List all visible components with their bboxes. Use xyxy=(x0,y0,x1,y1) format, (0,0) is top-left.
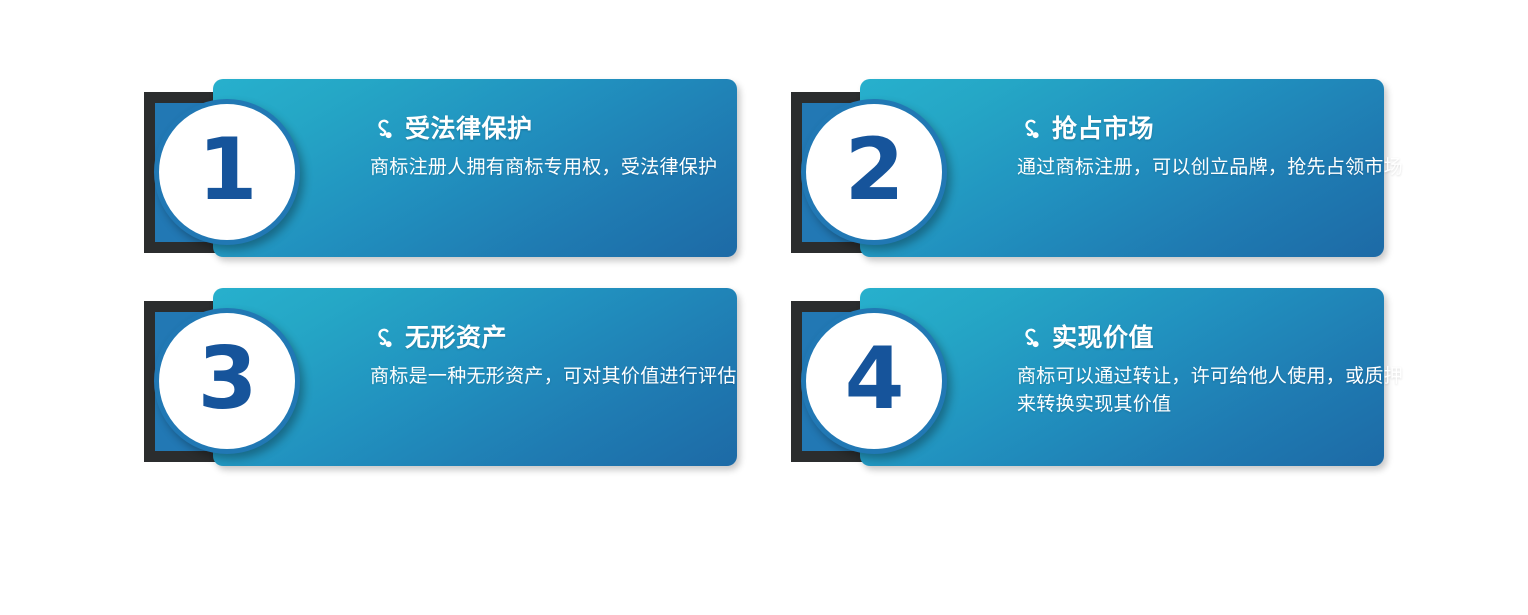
number-badge-value: 3 xyxy=(198,336,257,422)
card-description: 商标是一种无形资产，可对其价值进行评估 xyxy=(370,363,788,392)
feature-card-2[interactable]: 2 抢占市场 通过商标注册，可以创立品牌，抢先占领市场 xyxy=(791,79,1384,275)
number-badge: 1 xyxy=(154,99,300,245)
number-badge: 3 xyxy=(154,308,300,454)
card-title: 无形资产 xyxy=(405,325,507,353)
number-badge-value: 2 xyxy=(845,127,904,213)
feature-card-4[interactable]: 4 实现价值 商标可以通过转让，许可给他人使用，或质押来转换实现其价值 xyxy=(791,288,1384,484)
card-title: 实现价值 xyxy=(1052,325,1154,353)
feature-card-1[interactable]: 1 受法律保护 商标注册人拥有商标专用权，受法律保护 xyxy=(144,79,737,275)
card-description: 通过商标注册，可以创立品牌，抢先占领市场 xyxy=(1017,154,1417,183)
card-heading: 受法律保护 xyxy=(370,116,790,144)
number-badge: 2 xyxy=(801,99,947,245)
card-text-block: 抢占市场 通过商标注册，可以创立品牌，抢先占领市场 xyxy=(1017,116,1437,182)
infographic-canvas: 1 受法律保护 商标注册人拥有商标专用权，受法律保护 xyxy=(0,0,1528,615)
card-description: 商标可以通过转让，许可给他人使用，或质押来转换实现其价值 xyxy=(1017,363,1417,420)
swirl-s-icon xyxy=(1017,326,1043,352)
number-badge-value: 1 xyxy=(198,127,257,213)
card-text-block: 无形资产 商标是一种无形资产，可对其价值进行评估 xyxy=(370,325,790,391)
swirl-s-icon xyxy=(370,117,396,143)
number-badge-value: 4 xyxy=(845,336,904,422)
card-description: 商标注册人拥有商标专用权，受法律保护 xyxy=(370,154,788,183)
card-heading: 实现价值 xyxy=(1017,325,1437,353)
swirl-s-icon xyxy=(1017,117,1043,143)
card-title: 受法律保护 xyxy=(405,116,533,144)
card-heading: 无形资产 xyxy=(370,325,790,353)
swirl-s-icon xyxy=(370,326,396,352)
feature-card-grid: 1 受法律保护 商标注册人拥有商标专用权，受法律保护 xyxy=(0,0,1528,615)
card-text-block: 受法律保护 商标注册人拥有商标专用权，受法律保护 xyxy=(370,116,790,182)
card-title: 抢占市场 xyxy=(1052,116,1154,144)
number-badge: 4 xyxy=(801,308,947,454)
card-heading: 抢占市场 xyxy=(1017,116,1437,144)
feature-card-3[interactable]: 3 无形资产 商标是一种无形资产，可对其价值进行评估 xyxy=(144,288,737,484)
card-text-block: 实现价值 商标可以通过转让，许可给他人使用，或质押来转换实现其价值 xyxy=(1017,325,1437,420)
